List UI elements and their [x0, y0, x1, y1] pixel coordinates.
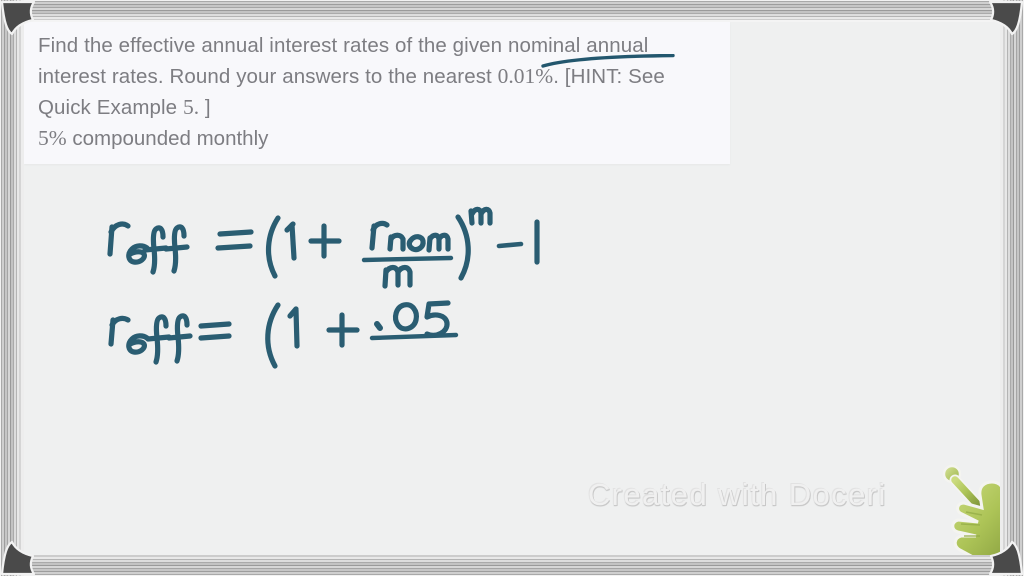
frame-border-left — [0, 0, 24, 576]
pointing-hand-cursor-icon[interactable] — [934, 462, 1000, 555]
doceri-screenshot: Find the effective annual interest rates… — [0, 0, 1024, 576]
frame-border-top — [0, 0, 1024, 22]
frame-border-bottom — [0, 555, 1024, 576]
frame-border-right — [1000, 0, 1024, 576]
handwritten-ink-layer — [24, 22, 1000, 555]
doceri-watermark: Created with Doceri — [588, 477, 887, 513]
whiteboard-canvas[interactable]: Find the effective annual interest rates… — [24, 22, 1000, 555]
